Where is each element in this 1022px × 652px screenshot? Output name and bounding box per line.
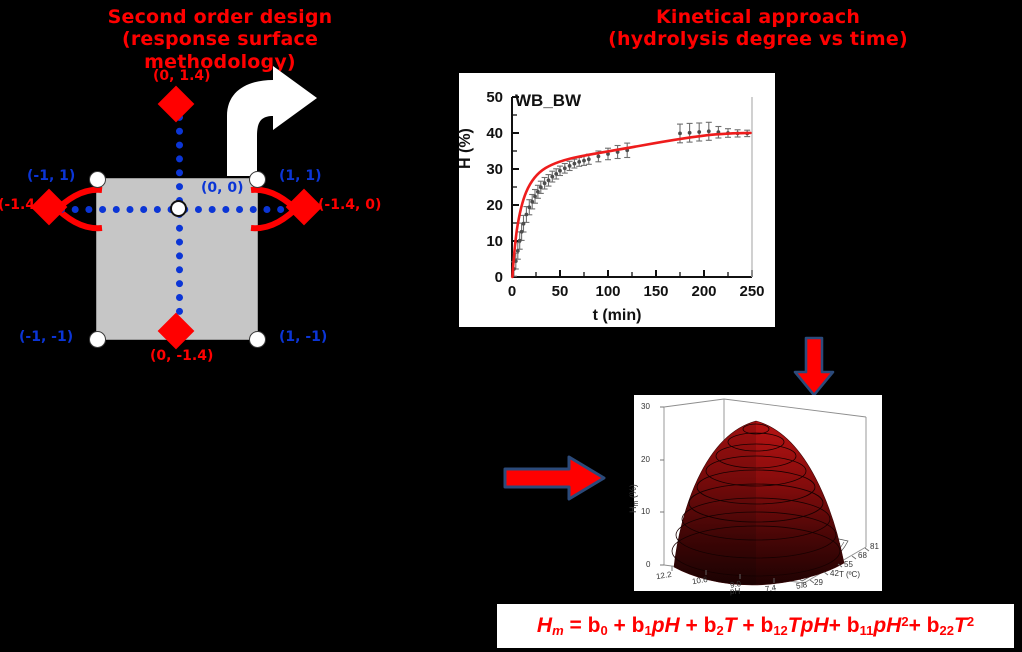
corner-point-top-right xyxy=(249,171,266,188)
center-label: (0, 0) xyxy=(201,180,243,196)
down-red-arrow-icon xyxy=(793,336,835,398)
surface-ph-tick: 7.4 xyxy=(764,583,776,594)
corner-label-top-left: (-1, 1) xyxy=(27,168,75,184)
center-point xyxy=(170,200,187,217)
axial-label-bottom: (0, -1.4) xyxy=(150,348,213,364)
corner-label-bottom-right: (1, -1) xyxy=(279,329,327,345)
surface-ph-tick: 5.8 xyxy=(795,580,807,591)
left-title-line1: Second order design xyxy=(48,6,392,28)
surface-t-axis-label: T (ºC) xyxy=(839,570,860,579)
axial-label-left: (-1.4, 0) xyxy=(0,197,61,213)
surface-t-tick: 55 xyxy=(844,560,853,569)
surface-t-tick: 81 xyxy=(870,542,879,551)
model-equation-box: Hm = b0 + b1pH + b2T + b12TpH+ b11pH2+ b… xyxy=(497,604,1014,648)
axial-point-top xyxy=(158,86,195,123)
response-surface-plot-panel: 0 10 20 30 Hm (%) 12.2 10.6 9.0 7.4 5.8 … xyxy=(634,395,882,591)
kinetics-chart-panel: WB_BW H (%) t (min) 50 40 30 20 10 0 0 5… xyxy=(459,73,775,327)
surface-z-tick: 30 xyxy=(641,402,650,411)
surface-t-tick: 68 xyxy=(858,551,867,560)
right-section-title: Kinetical approach (hydrolysis degree vs… xyxy=(558,6,958,51)
corner-label-bottom-left: (-1, -1) xyxy=(19,329,73,345)
right-title-line1: Kinetical approach xyxy=(558,6,958,28)
surface-z-tick: 20 xyxy=(641,455,650,464)
surface-z-tick: 10 xyxy=(641,507,650,516)
corner-point-bottom-right xyxy=(249,331,266,348)
fit-curve xyxy=(512,133,750,277)
axial-label-right: (-1.4, 0) xyxy=(318,197,381,213)
right-title-line2: (hydrolysis degree vs time) xyxy=(558,28,958,50)
corner-label-top-right: (1, 1) xyxy=(279,168,321,184)
model-equation: Hm = b0 + b1pH + b2T + b12TpH+ b11pH2+ b… xyxy=(537,614,974,638)
second-order-design-diagram: (0, 1.4) (0, -1.4) (-1.4, 0) (-1.4, 0) (… xyxy=(0,60,440,360)
surface-ph-axis-label: pH xyxy=(730,587,740,596)
chart-plot-area xyxy=(459,73,775,327)
surface-z-axis-label: Hm (%) xyxy=(628,484,640,513)
right-red-arrow-icon xyxy=(503,455,607,501)
axial-label-top: (0, 1.4) xyxy=(153,68,211,84)
surface-t-tick: 29 xyxy=(814,578,823,587)
curved-white-arrow-icon xyxy=(205,64,327,176)
surface-z-axis-label-main: H xyxy=(628,507,638,514)
corner-point-top-left xyxy=(89,171,106,188)
surface-z-tick: 0 xyxy=(646,560,650,569)
surface-z-axis-label-sub: m xyxy=(633,501,640,507)
surface-t-tick: 42 xyxy=(830,569,839,578)
surface-z-axis-label-unit: (%) xyxy=(628,484,638,501)
corner-point-bottom-left xyxy=(89,331,106,348)
